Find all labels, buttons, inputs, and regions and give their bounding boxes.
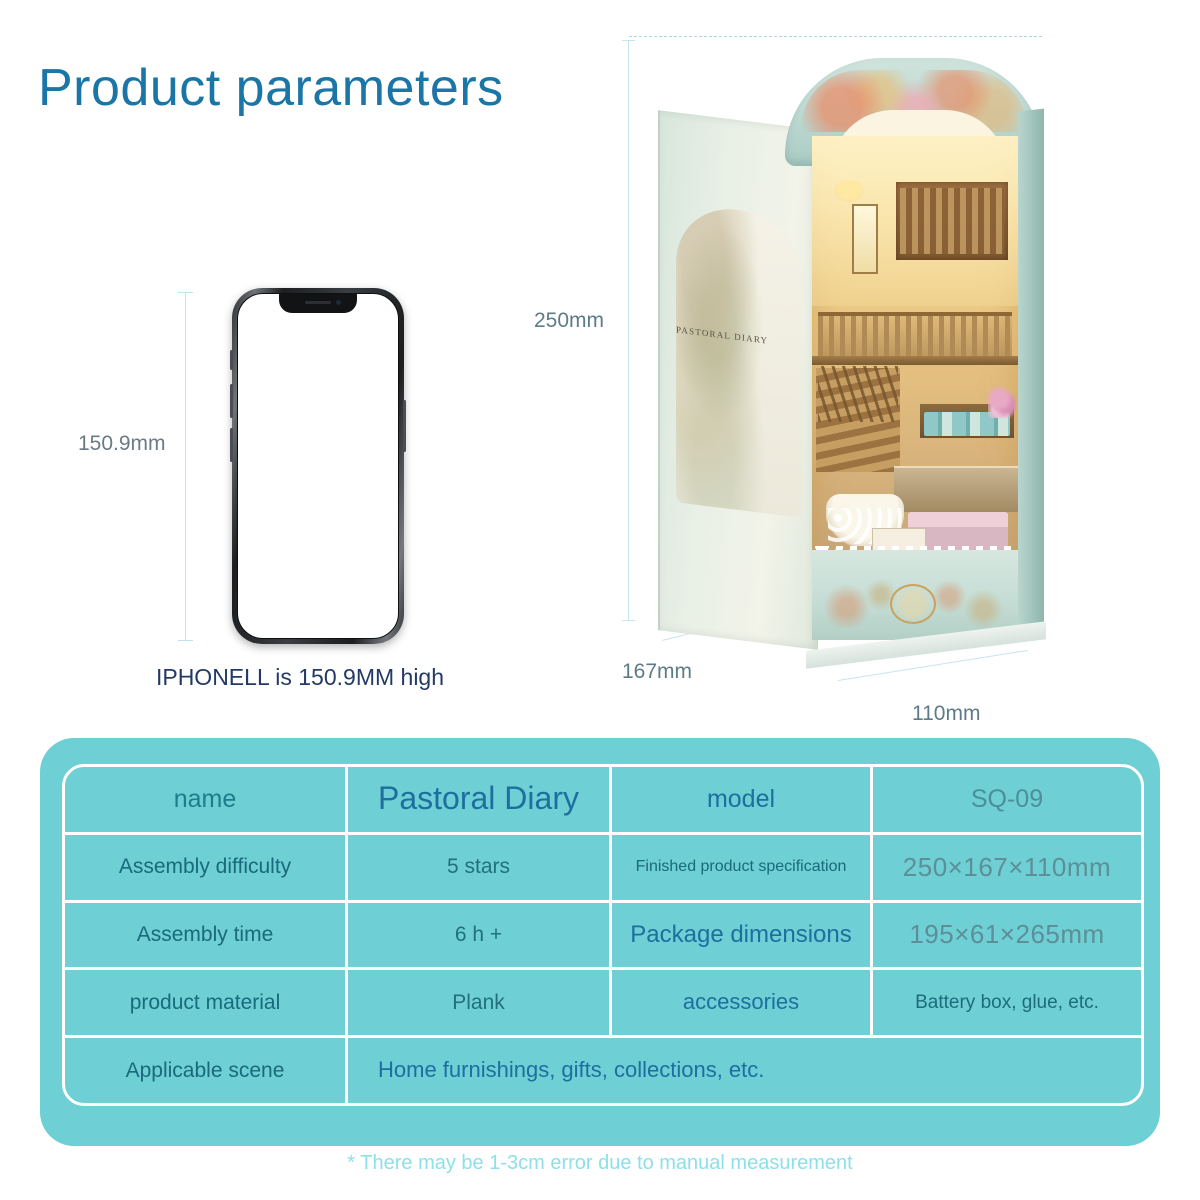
- interior-base-medallion: [890, 584, 936, 624]
- phone-volume-up-button: [230, 384, 233, 418]
- spec-label-model: model: [612, 767, 873, 832]
- measurement-disclaimer: * There may be 1-3cm error due to manual…: [0, 1152, 1200, 1175]
- interior-balcony-top-rail: [818, 312, 1012, 316]
- spec-label-name: name: [65, 767, 348, 832]
- table-row: name Pastoral Diary model SQ-09: [65, 767, 1141, 835]
- book-nook-product-image: PASTORAL DIARY: [630, 40, 1060, 650]
- phone-dimension-tick-top: [178, 292, 193, 293]
- phone-screen: [237, 293, 399, 639]
- interior-shelf-slats: [900, 188, 1004, 254]
- phone-mockup: [232, 288, 404, 644]
- phone-mute-button: [230, 350, 233, 370]
- product-width-label: 110mm: [912, 702, 980, 726]
- spec-panel: name Pastoral Diary model SQ-09 Assembly…: [40, 738, 1160, 1146]
- spec-value-applicable-scene: Home furnishings, gifts, collections, et…: [348, 1038, 1141, 1103]
- spec-label-assembly-time: Assembly time: [65, 903, 348, 968]
- spec-value-accessories: Battery box, glue, etc.: [873, 970, 1141, 1035]
- product-guide-dashed-top: [629, 36, 1042, 37]
- phone-caption: IPHONELL is 150.9MM high: [0, 664, 600, 691]
- book-nook-right-frame: [1018, 109, 1044, 640]
- phone-dimension-tick-bottom: [178, 640, 193, 641]
- spec-value-assembly-difficulty: 5 stars: [348, 835, 612, 900]
- table-row: product material Plank accessories Batte…: [65, 970, 1141, 1038]
- spec-label-product-material: product material: [65, 970, 348, 1035]
- spec-value-finished-specification: 250×167×110mm: [873, 835, 1141, 900]
- interior-balcony-floor: [812, 356, 1018, 365]
- spec-value-model: SQ-09: [873, 767, 1141, 832]
- table-row: Assembly time 6 h + Package dimensions 1…: [65, 903, 1141, 971]
- phone-comparison-block: 150.9mm IPHONELL is 150.9MM high: [0, 0, 600, 740]
- interior-counter: [894, 466, 1018, 512]
- phone-power-button: [403, 400, 406, 452]
- book-nook-side-panel: [658, 110, 818, 650]
- phone-earpiece-icon: [305, 301, 331, 304]
- spec-value-product-material: Plank: [348, 970, 612, 1035]
- spec-label-package-dimensions: Package dimensions: [612, 903, 873, 968]
- product-height-guide-line: [628, 40, 629, 620]
- phone-dimension-line: [185, 292, 186, 640]
- book-nook-side-artwork: [676, 202, 802, 517]
- book-nook-interior-scene: [812, 136, 1018, 640]
- spec-value-package-dimensions: 195×61×265mm: [873, 903, 1141, 968]
- spec-table: name Pastoral Diary model SQ-09 Assembly…: [62, 764, 1144, 1106]
- interior-lamp-glow-icon: [834, 180, 864, 202]
- spec-label-assembly-difficulty: Assembly difficulty: [65, 835, 348, 900]
- interior-flower-bouquet: [988, 386, 1016, 418]
- interior-window: [852, 204, 878, 274]
- product-photo-block: 250mm 167mm 110mm PASTORAL DIARY: [600, 0, 1200, 740]
- phone-volume-down-button: [230, 428, 233, 462]
- spec-value-name: Pastoral Diary: [348, 767, 612, 832]
- interior-stair-railing: [818, 366, 898, 422]
- phone-camera-icon: [336, 300, 341, 305]
- interior-balcony-railing: [818, 314, 1012, 358]
- spec-label-accessories: accessories: [612, 970, 873, 1035]
- table-row: Assembly difficulty 5 stars Finished pro…: [65, 835, 1141, 903]
- phone-height-label: 150.9mm: [78, 432, 166, 456]
- table-row: Applicable scene Home furnishings, gifts…: [65, 1038, 1141, 1103]
- product-height-label: 250mm: [534, 309, 604, 333]
- spec-label-applicable-scene: Applicable scene: [65, 1038, 348, 1103]
- spec-label-finished-specification: Finished product specification: [612, 835, 873, 900]
- phone-notch: [279, 294, 357, 313]
- product-depth-label: 167mm: [622, 660, 692, 684]
- spec-value-assembly-time: 6 h +: [348, 903, 612, 968]
